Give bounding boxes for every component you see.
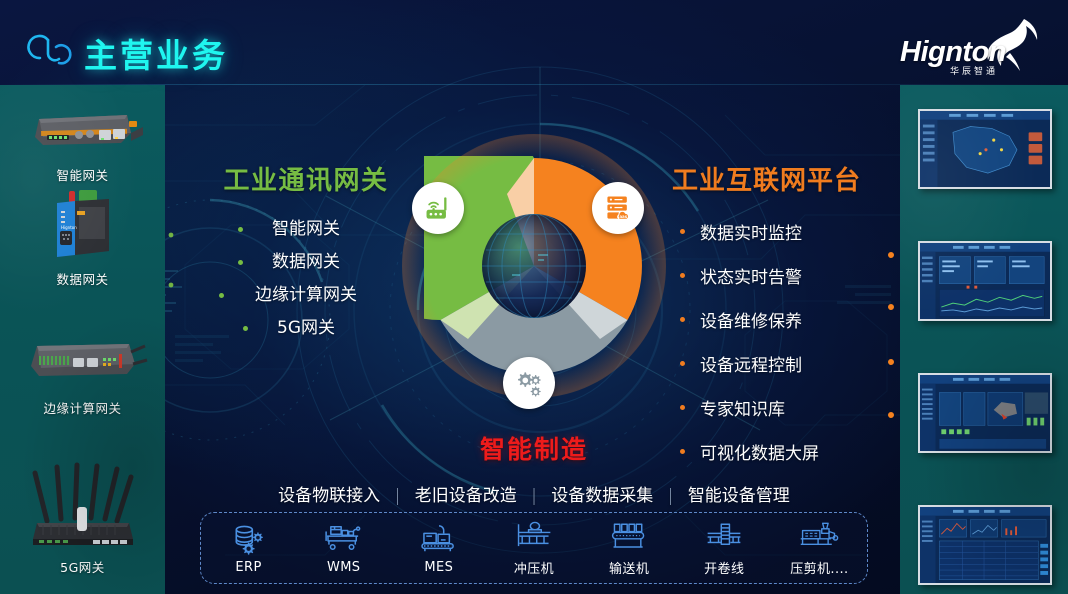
conveyor-machine-icon xyxy=(584,519,674,555)
list-item[interactable]: 边缘计算网关 xyxy=(186,279,426,312)
smart-manufacturing-subtitle: 设备物联接入 | 老旧设备改造 | 设备数据采集 | 智能设备管理 xyxy=(0,481,1068,506)
subtitle-item: 设备数据采集 xyxy=(551,486,653,506)
gateway-router-icon xyxy=(423,193,453,223)
system-label: WMS xyxy=(299,560,389,575)
saas-badge[interactable]: saas xyxy=(592,182,644,234)
alarm-list-dashboard-screenshot[interactable] xyxy=(918,505,1052,585)
edge-computing-gateway-device-image xyxy=(17,330,149,392)
bullet-dot xyxy=(238,227,243,232)
smart-manufacturing-title: 智能制造 xyxy=(0,430,1068,466)
left-column-list: 智能网关 数据网关 边缘计算网关 5G网关 xyxy=(186,213,426,345)
column-title-left: 工业通讯网关 xyxy=(186,160,426,197)
bullet-dot xyxy=(680,361,685,366)
slide-root: 主营业务 Hignton 华辰智通 xyxy=(0,0,1068,594)
list-item[interactable]: 数据网关 xyxy=(186,246,426,279)
smart-gateway-device-image xyxy=(17,97,149,159)
list-item-label: 专家知识库 xyxy=(700,400,785,420)
gateway-badge[interactable] xyxy=(412,182,464,234)
gears-manufacturing-icon xyxy=(514,368,544,398)
stamping-machine-icon xyxy=(489,519,579,555)
system-item-conveyor[interactable]: 输送机 xyxy=(584,519,674,577)
system-item-erp[interactable]: ERP xyxy=(204,521,294,575)
system-item-uncoiler[interactable]: 开卷线 xyxy=(679,519,769,577)
subtitle-item: 老旧设备改造 xyxy=(415,486,517,506)
list-item[interactable]: 状态实时告警 xyxy=(672,253,896,297)
system-label: 冲压机 xyxy=(489,558,579,577)
data-table-dashboard-screenshot[interactable] xyxy=(918,241,1052,321)
conveyor-boxes-icon xyxy=(394,521,484,557)
list-item-label: 设备远程控制 xyxy=(700,356,802,376)
system-item-stamping[interactable]: 冲压机 xyxy=(489,519,579,577)
system-label: 压剪机.... xyxy=(774,558,864,577)
subtitle-item: 设备物联接入 xyxy=(278,486,380,506)
warehouse-cart-icon xyxy=(299,521,389,557)
subtitle-separator: | xyxy=(531,486,537,506)
product-label: 5G网关 xyxy=(0,557,165,576)
product-item-2[interactable]: 边缘计算网关 xyxy=(0,330,165,417)
linked-circles-icon xyxy=(26,28,74,72)
industrial-gateway-column: 工业通讯网关 智能网关 数据网关 边缘计算网关 5G网关 xyxy=(186,160,426,345)
system-label: ERP xyxy=(204,560,294,575)
bullet-dot xyxy=(680,317,685,322)
uncoiling-line-icon xyxy=(679,519,769,555)
list-item-label: 5G网关 xyxy=(277,318,335,338)
donut-center-globe xyxy=(482,214,586,318)
bullet-dot xyxy=(243,326,248,331)
product-label: 数据网关 xyxy=(0,269,165,288)
system-label: 输送机 xyxy=(584,558,674,577)
iiot-platform-column: 工业互联网平台 数据实时监控 状态实时告警 设备维修保养 设备远程控制 专家知识… xyxy=(672,160,896,473)
svg-text:Hignton: Hignton xyxy=(61,225,77,230)
page-title: 主营业务 xyxy=(84,29,228,77)
header-divider xyxy=(0,84,1068,85)
saas-server-cloud-icon: saas xyxy=(603,193,633,223)
system-icon-strip: ERP xyxy=(200,512,868,584)
data-gateway-device-image: Hignton xyxy=(17,185,149,263)
system-item-mes[interactable]: MES xyxy=(394,521,484,575)
bullet-dot xyxy=(680,405,685,410)
column-title-right: 工业互联网平台 xyxy=(672,160,896,197)
subtitle-item: 智能设备管理 xyxy=(688,486,790,506)
list-item[interactable]: 设备远程控制 xyxy=(672,341,896,385)
shearing-machine-icon xyxy=(774,519,864,555)
brand-subtitle: 华辰智通 xyxy=(950,64,998,77)
map-dashboard-screenshot[interactable] xyxy=(918,109,1052,189)
subtitle-separator: | xyxy=(668,486,674,506)
bullet-dot xyxy=(680,229,685,234)
product-item-3[interactable]: 5G网关 xyxy=(0,455,165,576)
bullet-dot xyxy=(680,273,685,278)
list-item-label: 智能网关 xyxy=(272,219,340,239)
system-label: MES xyxy=(394,560,484,575)
manufacturing-badge[interactable] xyxy=(503,357,555,409)
system-item-shearing[interactable]: 压剪机.... xyxy=(774,519,864,577)
database-gears-icon xyxy=(204,521,294,557)
product-label: 智能网关 xyxy=(0,165,165,184)
system-item-wms[interactable]: WMS xyxy=(299,521,389,575)
list-item[interactable]: 数据实时监控 xyxy=(672,209,896,253)
subtitle-separator: | xyxy=(395,486,401,506)
list-item[interactable]: 专家知识库 xyxy=(672,385,896,429)
product-item-1[interactable]: Hignton 数据网关 xyxy=(0,185,165,288)
bullet-dot xyxy=(238,260,243,265)
list-item-label: 状态实时告警 xyxy=(700,268,802,288)
list-item-label: 设备维修保养 xyxy=(700,312,802,332)
list-item[interactable]: 智能网关 xyxy=(186,213,426,246)
list-item-label: 数据实时监控 xyxy=(700,224,802,244)
list-item-label: 数据网关 xyxy=(272,252,340,272)
list-item[interactable]: 5G网关 xyxy=(186,312,426,345)
left-product-panel: 智能网关 Hignton xyxy=(0,85,165,594)
list-item[interactable]: 设备维修保养 xyxy=(672,297,896,341)
right-screenshot-panel xyxy=(900,85,1068,594)
brand-logo: Hignton 华辰智通 xyxy=(898,16,1048,78)
svg-text:saas: saas xyxy=(617,214,628,219)
page-header: 主营业务 Hignton 华辰智通 xyxy=(0,0,1068,85)
product-item-0[interactable]: 智能网关 xyxy=(0,97,165,184)
system-label: 开卷线 xyxy=(679,558,769,577)
bullet-dot xyxy=(219,293,224,298)
product-label: 边缘计算网关 xyxy=(0,398,165,417)
list-item-label: 边缘计算网关 xyxy=(255,285,357,305)
